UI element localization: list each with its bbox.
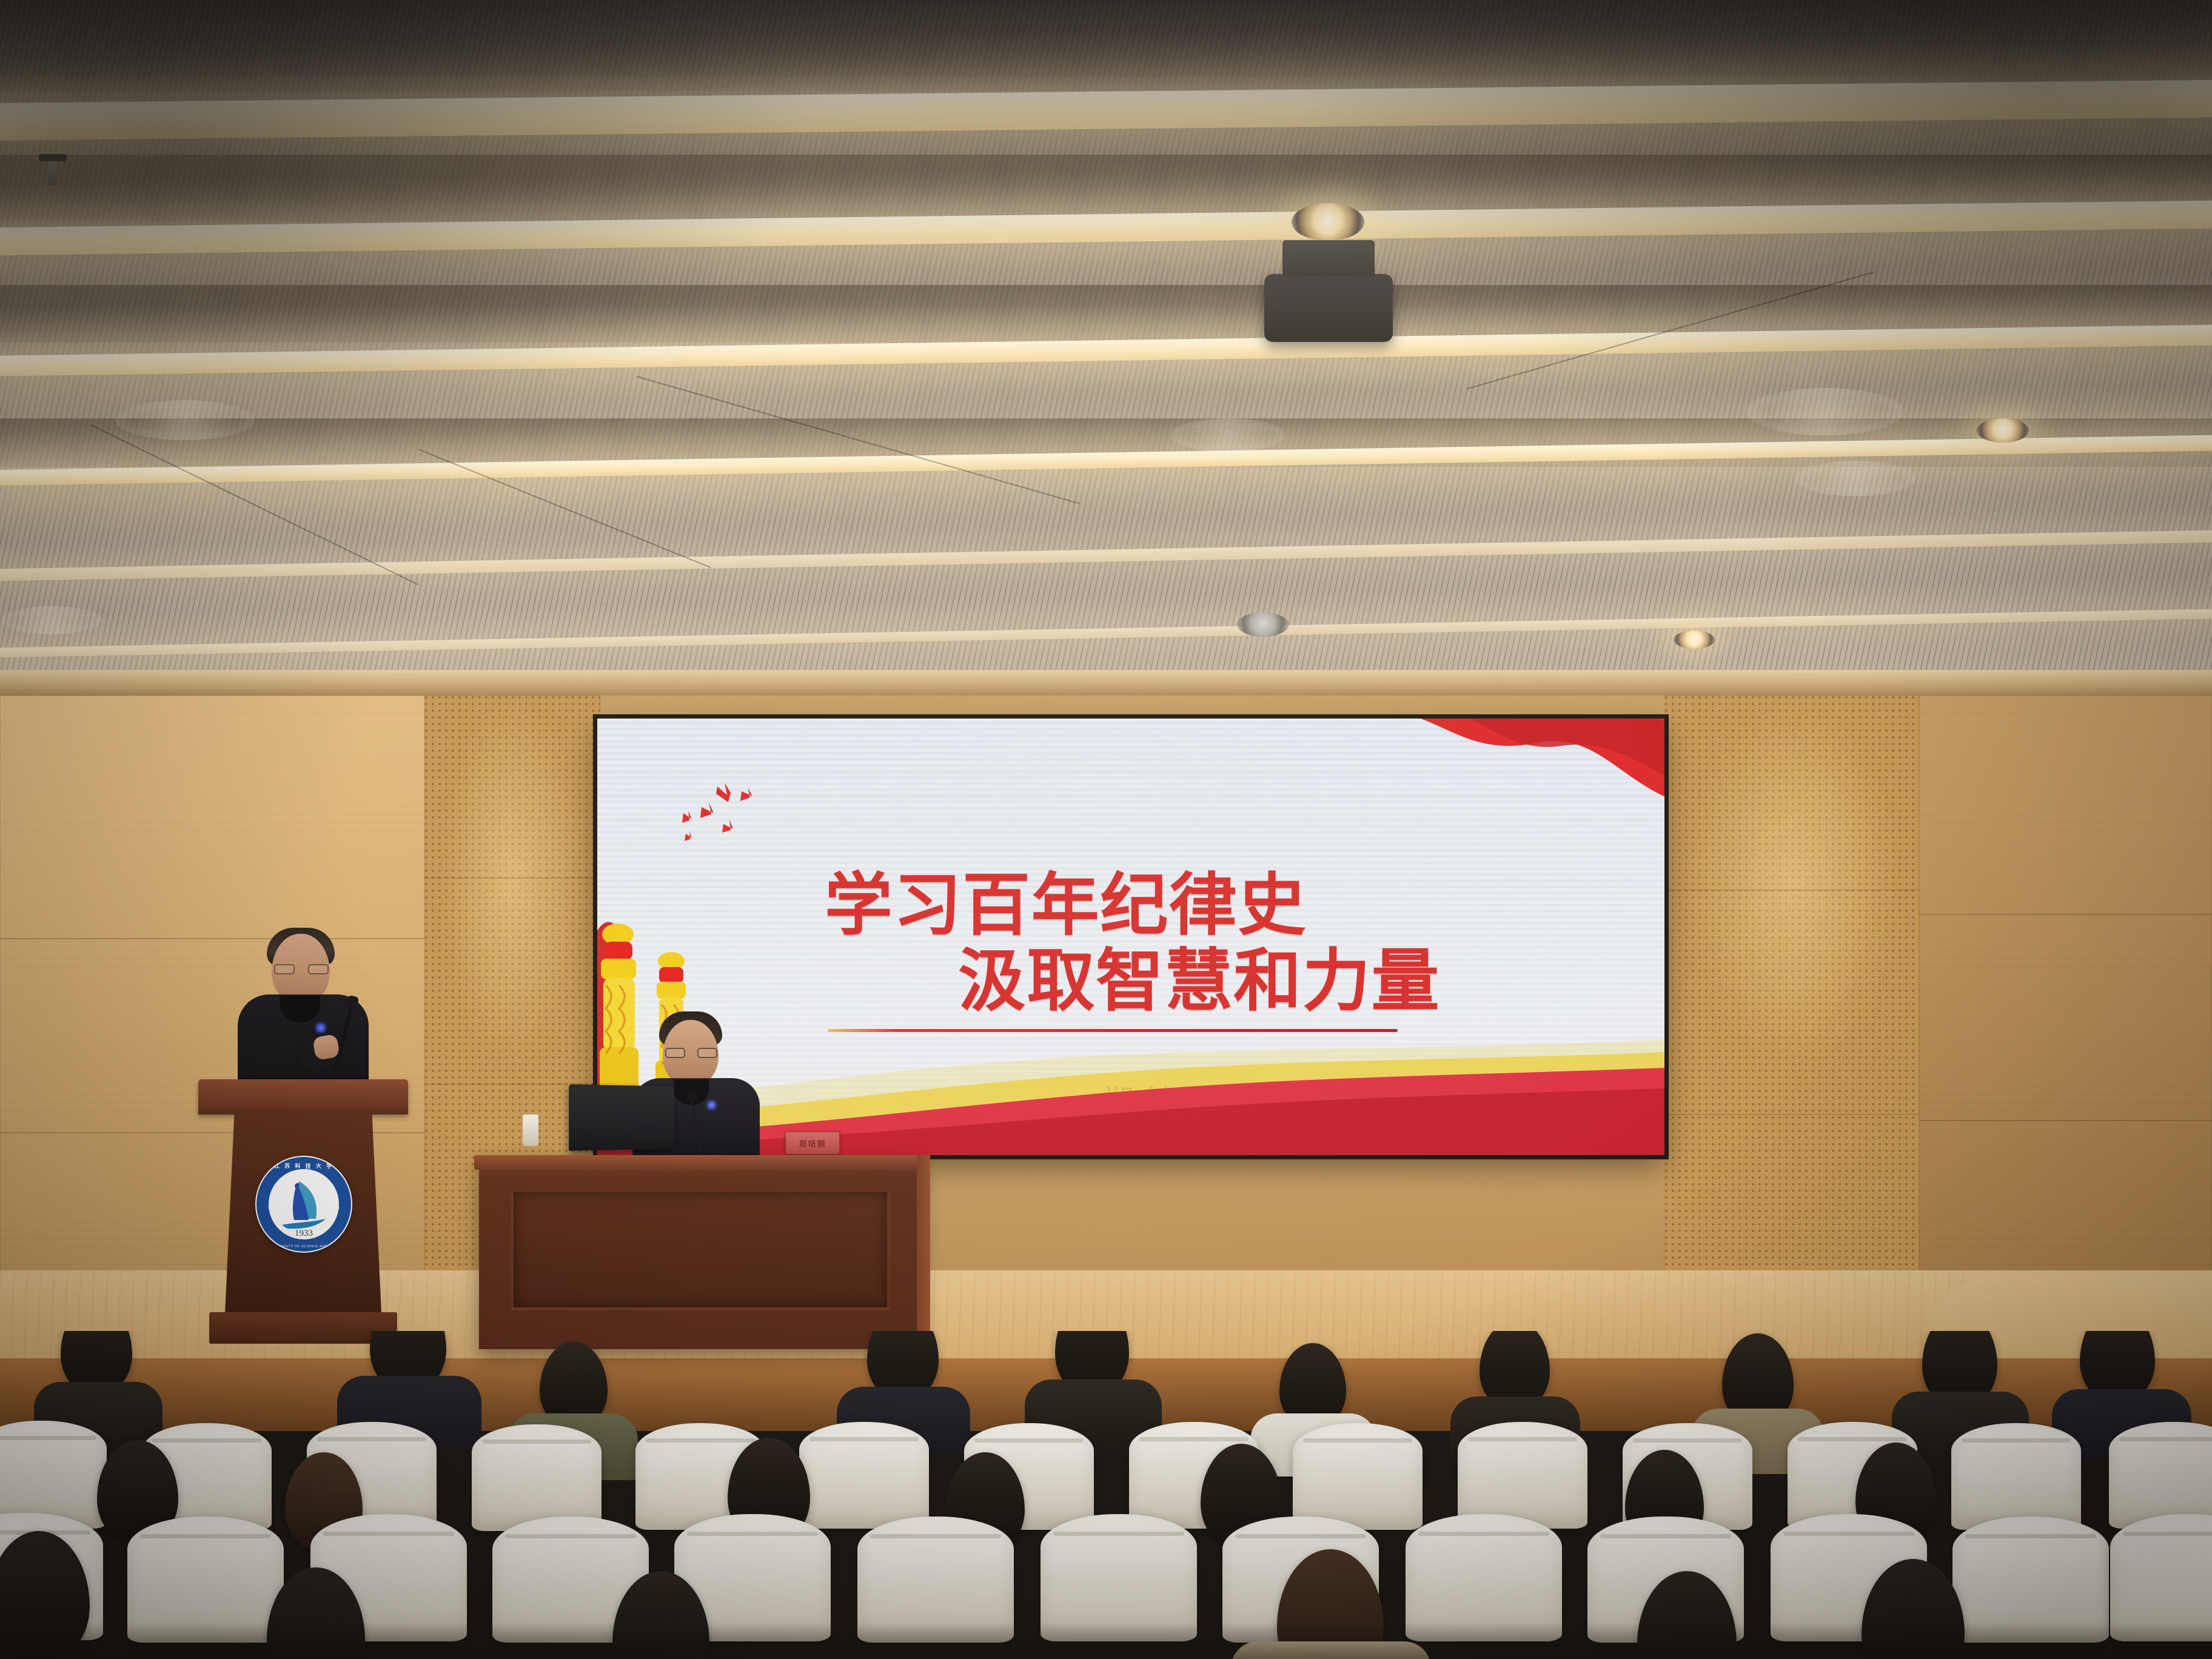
- audience-chair: [2109, 1422, 2212, 1529]
- audience-chair: [1951, 1423, 2081, 1530]
- wall-top-trim: [0, 670, 2212, 695]
- audience-chair: [1458, 1422, 1587, 1529]
- audience-chair: [472, 1424, 602, 1531]
- svg-text:江 苏 科 技 大 学: 江 苏 科 技 大 学: [274, 1162, 333, 1169]
- wall-wood-panel: [1919, 695, 2212, 1278]
- table-front-panel: [511, 1189, 890, 1310]
- red-doves-icon: [670, 773, 809, 870]
- svg-text:1933: 1933: [295, 1228, 313, 1238]
- lapel-badge-icon: [708, 1101, 716, 1109]
- red-ribbon-decoration: [1076, 719, 1664, 864]
- university-logo: 1933 江 苏 科 技 大 学 JIANGSU UNIVERSITY OF S…: [255, 1156, 352, 1253]
- table-lip: [474, 1155, 927, 1170]
- slide-title-line1: 学习百年纪律史: [597, 867, 1664, 943]
- ceiling-shading: [0, 0, 2212, 716]
- lecture-hall-scene: 学习百年纪律史 汲取智慧和力量 郑培钢: [0, 0, 2212, 1659]
- slide-title: 学习百年纪律史 汲取智慧和力量: [597, 867, 1664, 1019]
- ceiling: [0, 0, 2212, 716]
- laptop: [569, 1084, 674, 1151]
- podium: 1933 江 苏 科 技 大 学 JIANGSU UNIVERSITY OF S…: [209, 1079, 397, 1358]
- name-plate: 郑培钢: [785, 1131, 840, 1155]
- acoustic-wall-panel: [1664, 695, 1919, 1278]
- head-table: [479, 1155, 922, 1349]
- podium-top: [198, 1079, 408, 1114]
- drinking-cup: [523, 1114, 538, 1146]
- audience-chair: [1293, 1423, 1423, 1530]
- floor-shadow: [0, 1623, 2212, 1659]
- table-right-edge: [917, 1155, 930, 1349]
- standing-speaker: [224, 928, 382, 1098]
- audience-seating: [0, 1331, 2212, 1659]
- audience-chair: [799, 1422, 929, 1529]
- glasses-icon: [274, 964, 329, 975]
- glasses-icon: [665, 1048, 717, 1059]
- lapel-badge-icon: [317, 1024, 325, 1032]
